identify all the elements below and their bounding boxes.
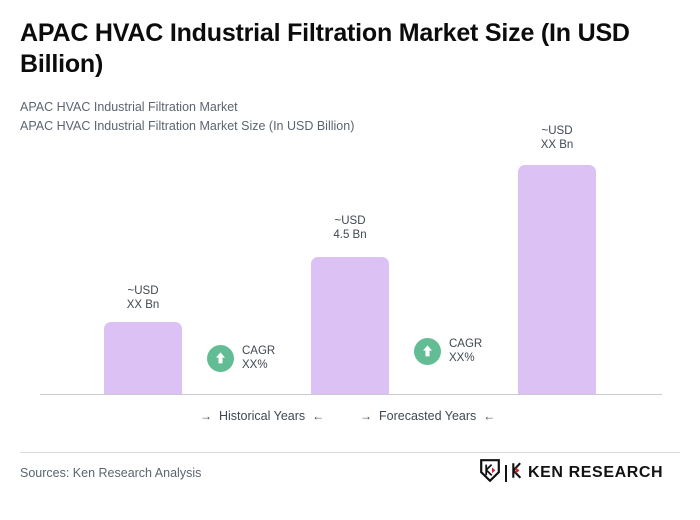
logo-k-accent-icon [512, 462, 523, 484]
ken-research-logo: KEN RESEARCH [480, 461, 663, 485]
bar-value-label-2: ~USD 4.5 Bn [311, 214, 389, 242]
arrow-right-icon: → [360, 410, 372, 422]
bar-value-label-3: ~USD XX Bn [518, 124, 596, 152]
up-arrow-icon [207, 345, 234, 372]
logo-divider [505, 465, 507, 482]
bar-1 [104, 322, 182, 394]
caption-historical-years: → Historical Years ← [200, 409, 324, 423]
axis-baseline [40, 394, 662, 395]
bar-2 [311, 257, 389, 394]
footer-divider [20, 452, 680, 453]
arrow-left-icon: ← [312, 410, 324, 422]
up-arrow-icon [414, 338, 441, 365]
chart-page: APAC HVAC Industrial Filtration Market S… [0, 0, 700, 520]
cagr-label-1: CAGR XX% [242, 344, 275, 372]
arrow-left-icon: ← [483, 410, 495, 422]
sources-text: Sources: Ken Research Analysis [20, 466, 201, 480]
bar-value-label-1: ~USD XX Bn [104, 284, 182, 312]
cagr-badge-2: CAGR XX% [414, 337, 482, 365]
logo-wordmark: KEN RESEARCH [528, 465, 663, 481]
cagr-label-2: CAGR XX% [449, 337, 482, 365]
logo-shield-icon [480, 459, 500, 487]
year-captions-row: → Historical Years ← → Forecasted Years … [40, 409, 662, 431]
bar-3 [518, 165, 596, 394]
caption-forecasted-years: → Forecasted Years ← [360, 409, 495, 423]
arrow-right-icon: → [200, 410, 212, 422]
cagr-badge-1: CAGR XX% [207, 344, 275, 372]
chart-plot-area: ~USD XX Bn CAGR XX% ~USD 4.5 Bn CAGR XX% [0, 0, 700, 520]
caption-forecasted-years-label: Forecasted Years [379, 409, 476, 423]
caption-historical-years-label: Historical Years [219, 409, 305, 423]
